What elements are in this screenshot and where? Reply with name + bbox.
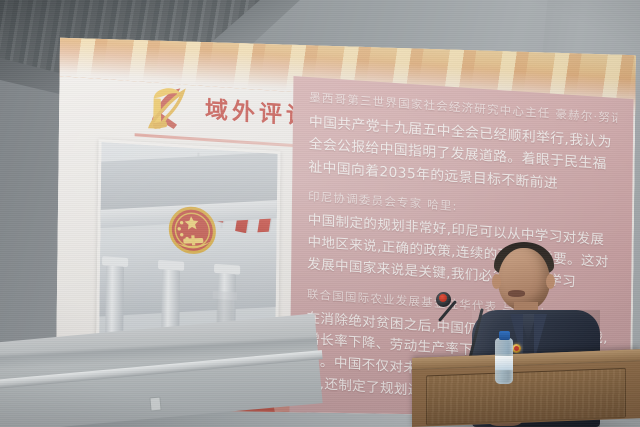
bottle-cap [499,331,510,340]
presenter-head [498,248,550,310]
lecture-hall-photo: 域外评论 [0,0,640,427]
hammer-and-sickle-emblem [135,77,198,139]
presenter-mouth [508,290,525,297]
mic-windscreen-icon [439,294,447,302]
presenter-ear [546,274,555,289]
lapel-badge-icon [512,344,521,353]
lectern [412,349,640,427]
wood-grain-texture [427,369,625,425]
presenter-ear [492,274,501,289]
quote-block-1: 墨西哥第三世界国家社会经济研究中心主任 豪赫尔·努诺尔: 中国共产党十九届五中全… [308,89,617,199]
bottle-label [495,356,513,370]
wall-socket [149,397,161,412]
national-emblem-icon [159,201,224,263]
lectern-front-panel [426,368,626,426]
quote-body-1: 中国共产党十九届五中全会已经顺利举行,我认为全会公报给中国指明了发展道路。着眼于… [308,111,617,199]
